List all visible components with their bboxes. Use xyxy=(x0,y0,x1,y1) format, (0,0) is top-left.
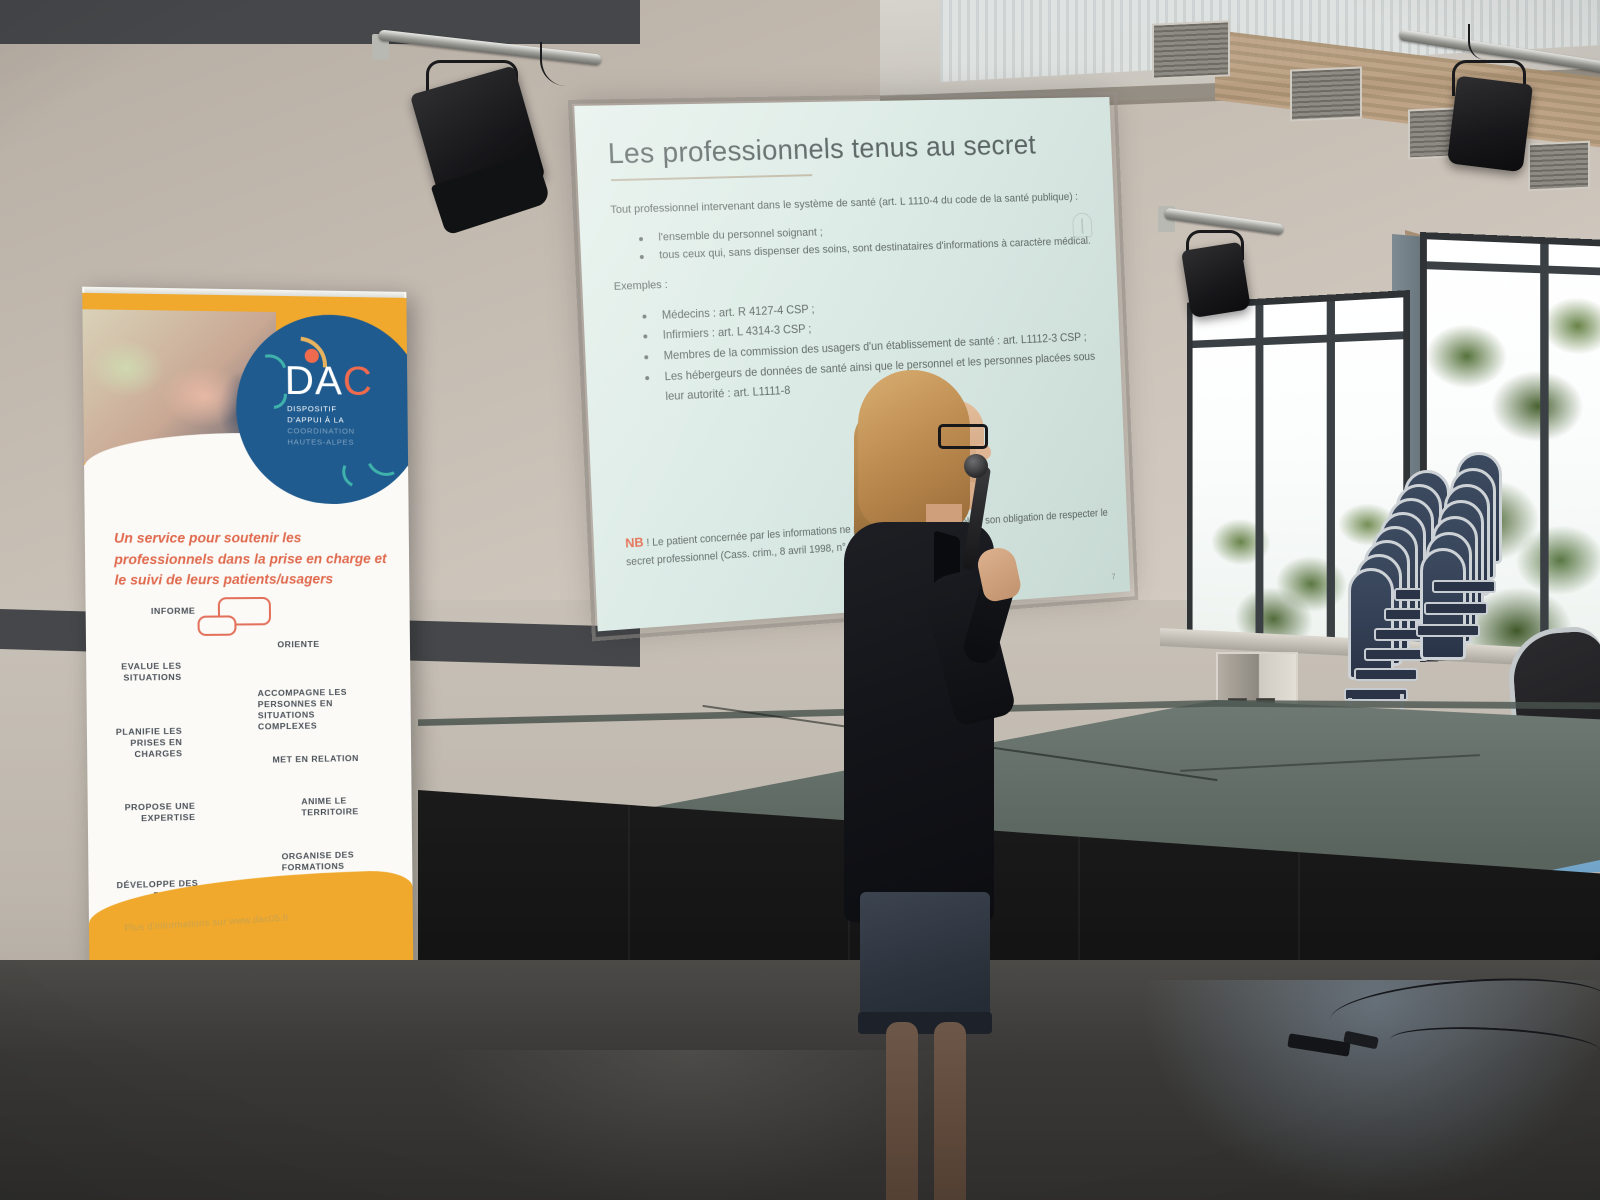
dac-subtitle-line: D'APPUI À LA xyxy=(287,414,406,426)
diagram-label-right: ANIME LE TERRITOIRE xyxy=(301,795,386,819)
diagram-label-right: ACCOMPAGNE LES PERSONNES EN SITUATIONS C… xyxy=(258,687,361,733)
ceiling-vent-2 xyxy=(1290,66,1362,121)
skirt-hem xyxy=(858,1012,992,1034)
window-mullion xyxy=(1256,305,1264,635)
diagram-cube xyxy=(186,680,244,730)
dac-subtitle: DISPOSITIF D'APPUI À LA COORDINATION HAU… xyxy=(287,403,406,448)
dac-subtitle-line: HAUTES-ALPES xyxy=(287,436,406,448)
diagram-label-left: INFORME xyxy=(104,606,195,618)
slide-bullet-list: l'ensemble du personnel soignant ; tous … xyxy=(637,215,1093,265)
diagram-label-right: ORIENTE xyxy=(277,638,364,650)
ceiling-vent-1 xyxy=(1152,20,1230,79)
slide-title-rule xyxy=(611,174,812,181)
chair-seat xyxy=(1344,688,1408,701)
diagram-label-left: PROPOSE UNE EXPERTISE xyxy=(100,801,195,826)
chair-seat xyxy=(1416,624,1480,637)
diagram-cube xyxy=(211,732,269,782)
slide-examples-label: Exemples : xyxy=(614,263,1094,292)
diagram-label-right: MET EN RELATION xyxy=(272,753,377,766)
dac-subtitle-line: COORDINATION xyxy=(287,425,406,437)
presenter-leg xyxy=(934,1022,966,1200)
presenter-skirt xyxy=(860,892,990,1032)
dac-letters-da: DA xyxy=(285,359,344,404)
presenter xyxy=(830,362,1060,1142)
rollup-banner: DAC DISPOSITIF D'APPUI À LA COORDINATION… xyxy=(82,287,414,1016)
person-outline-watermark-icon xyxy=(1072,213,1092,238)
diagram-label-left: PLANIFIE LES PRISES EN CHARGES xyxy=(95,726,182,761)
conference-room-scene: Les professionnels tenus au secret Tout … xyxy=(0,0,1600,1200)
chair-back xyxy=(1348,568,1394,680)
eyeglasses-icon xyxy=(938,424,988,444)
diagram-label-right: ORGANISE DES FORMATIONS xyxy=(282,849,377,874)
diagram-cube xyxy=(242,782,299,832)
nb-label: NB xyxy=(625,535,644,551)
presenter-leg xyxy=(886,1022,918,1200)
stage-spotlight-right-upper[interactable] xyxy=(1447,76,1533,173)
dac-wordmark: DAC xyxy=(285,361,373,402)
banner-tagline: Un service pour soutenir les professionn… xyxy=(114,528,390,592)
dac-subtitle-line: DISPOSITIF xyxy=(287,403,406,415)
ceiling-vent-4 xyxy=(1528,141,1590,192)
chair-seat xyxy=(1424,602,1488,615)
slide-lead-text: Tout professionnel intervenant dans le s… xyxy=(610,189,1091,218)
slide-title: Les professionnels tenus au secret xyxy=(607,129,1089,170)
dac-letter-c: C xyxy=(343,359,373,403)
wall-dark-band-top xyxy=(0,0,640,44)
diagram-label-left: EVALUE LES SITUATIONS xyxy=(95,661,182,685)
diagram-cube xyxy=(206,627,264,676)
stage-spotlight-right-lower[interactable] xyxy=(1181,242,1251,319)
chair-seat xyxy=(1432,580,1496,593)
slide-page-number: 7 xyxy=(1111,573,1115,582)
